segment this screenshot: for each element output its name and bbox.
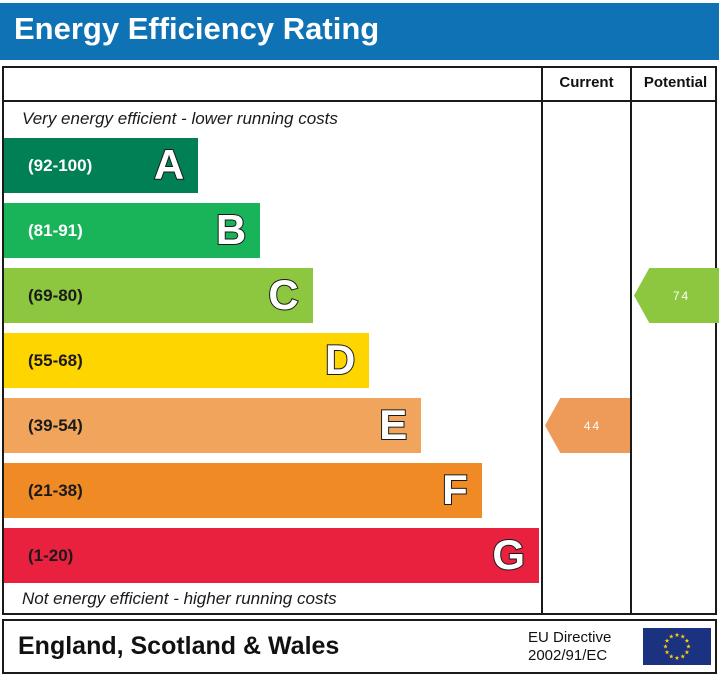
column-divider-current — [541, 68, 543, 613]
band-range-g: (1-20) — [28, 546, 73, 566]
band-range-d: (55-68) — [28, 351, 83, 371]
potential-rating-value: 74 — [673, 289, 690, 303]
caption-not-efficient: Not energy efficient - higher running co… — [22, 589, 337, 609]
band-range-f: (21-38) — [28, 481, 83, 501]
band-letter-b: B — [216, 209, 246, 251]
column-header-potential: Potential — [632, 74, 719, 91]
band-letter-a: A — [154, 144, 184, 186]
band-bars: (92-100)A(81-91)B(69-80)C(55-68)D(39-54)… — [4, 68, 539, 613]
band-d: (55-68)D — [4, 333, 369, 388]
page-title: Energy Efficiency Rating — [14, 11, 379, 47]
rating-table: Current Potential Very energy efficient … — [2, 66, 717, 615]
band-f: (21-38)F — [4, 463, 482, 518]
band-letter-g: G — [492, 534, 525, 576]
footer-bar: England, Scotland & Wales EU Directive 2… — [2, 619, 717, 674]
band-range-a: (92-100) — [28, 156, 92, 176]
footer-directive: EU Directive 2002/91/EC — [528, 629, 611, 665]
band-range-b: (81-91) — [28, 221, 83, 241]
band-range-e: (39-54) — [28, 416, 83, 436]
current-rating-value: 44 — [584, 419, 601, 433]
directive-line-2: 2002/91/EC — [528, 647, 611, 665]
directive-line-1: EU Directive — [528, 629, 611, 647]
band-c: (69-80)C — [4, 268, 313, 323]
energy-efficiency-rating-chart: Energy Efficiency Rating Current Potenti… — [0, 0, 719, 676]
current-rating-arrow: 44 — [545, 398, 630, 453]
band-g: (1-20)G — [4, 528, 539, 583]
band-letter-f: F — [442, 469, 468, 511]
potential-rating-arrow: 74 — [634, 268, 719, 323]
band-letter-e: E — [379, 404, 407, 446]
eu-flag-icon — [643, 628, 711, 665]
footer-region-label: England, Scotland & Wales — [18, 632, 339, 661]
band-range-c: (69-80) — [28, 286, 83, 306]
column-divider-potential — [630, 68, 632, 613]
band-letter-d: D — [325, 339, 355, 381]
chart-title-bar: Energy Efficiency Rating — [0, 3, 719, 60]
band-b: (81-91)B — [4, 203, 260, 258]
band-a: (92-100)A — [4, 138, 198, 193]
column-header-current: Current — [543, 74, 630, 91]
band-e: (39-54)E — [4, 398, 421, 453]
band-letter-c: C — [268, 274, 298, 316]
